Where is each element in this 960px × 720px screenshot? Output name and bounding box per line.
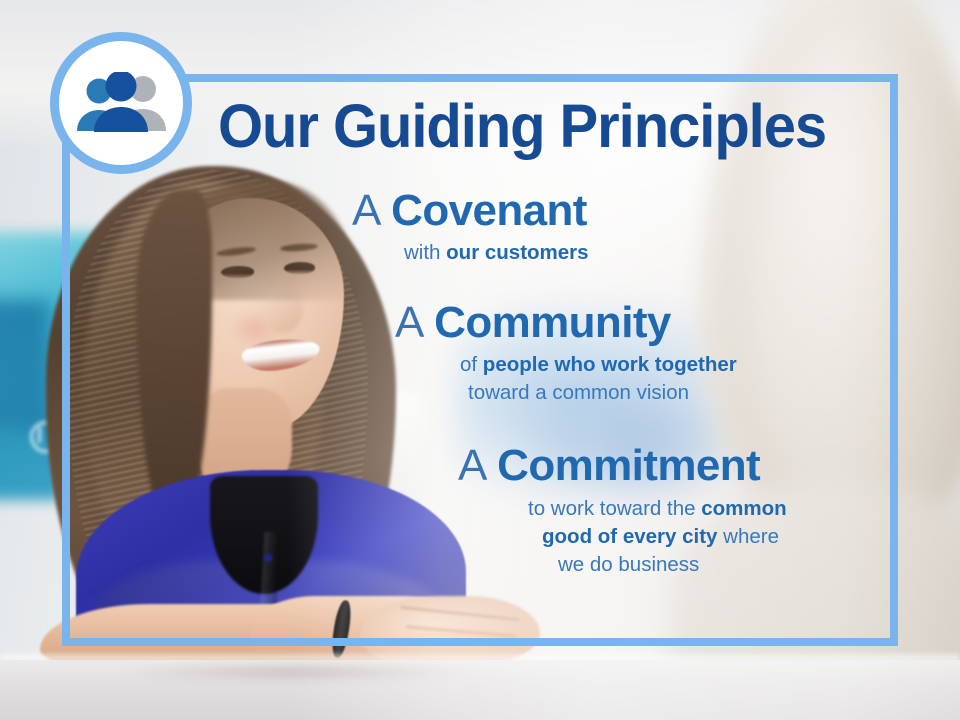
- principle-description-line: to work toward the common: [528, 497, 787, 520]
- principle-heading: A Covenant: [352, 186, 880, 235]
- plain-text: where: [717, 525, 779, 548]
- arm-shadow-on-desk: [120, 664, 480, 680]
- principle-description-line: good of every city where: [528, 523, 880, 551]
- people-group-icon: [73, 72, 169, 134]
- plain-text: to work toward the: [528, 497, 701, 520]
- emphasis-text: common: [701, 497, 786, 520]
- principle-keyword: Commitment: [497, 441, 760, 490]
- emphasis-text: good of every city: [542, 525, 717, 548]
- principle-description-line: toward a common vision: [460, 379, 880, 407]
- principle-heading: A Community: [395, 298, 880, 347]
- principle-community: A Community of people who work together …: [180, 298, 880, 408]
- principle-description: to work toward the common good of every …: [458, 495, 880, 580]
- principles-list: A Covenant with our customers A Communit…: [180, 186, 880, 585]
- page-title: Our Guiding Principles: [218, 96, 845, 157]
- principle-keyword: Covenant: [391, 186, 587, 235]
- principle-description: of people who work together toward a com…: [395, 351, 880, 408]
- principle-covenant: A Covenant with our customers: [180, 186, 880, 268]
- guiding-principles-graphic: FLOW AUTOMOTIVE FLOW: [0, 0, 960, 720]
- people-group-badge: [50, 32, 192, 174]
- principle-article: A: [395, 298, 422, 347]
- principle-commitment: A Commitment to work toward the common g…: [180, 441, 880, 579]
- plain-text: of: [460, 353, 483, 376]
- principle-article: A: [352, 186, 379, 235]
- emphasis-text: people who work together: [483, 353, 737, 376]
- principle-keyword: Community: [434, 298, 671, 347]
- plain-text: with: [404, 241, 446, 264]
- principle-article: A: [458, 441, 485, 490]
- principle-description-line: with our customers: [404, 241, 589, 264]
- principle-description: with our customers: [352, 239, 880, 267]
- plain-text: toward a common vision: [468, 381, 689, 404]
- principle-heading: A Commitment: [458, 441, 880, 490]
- emphasis-text: our customers: [446, 241, 588, 264]
- plain-text: we do business: [558, 553, 699, 576]
- principle-description-line: of people who work together: [460, 353, 737, 376]
- principle-description-line: we do business: [528, 551, 880, 579]
